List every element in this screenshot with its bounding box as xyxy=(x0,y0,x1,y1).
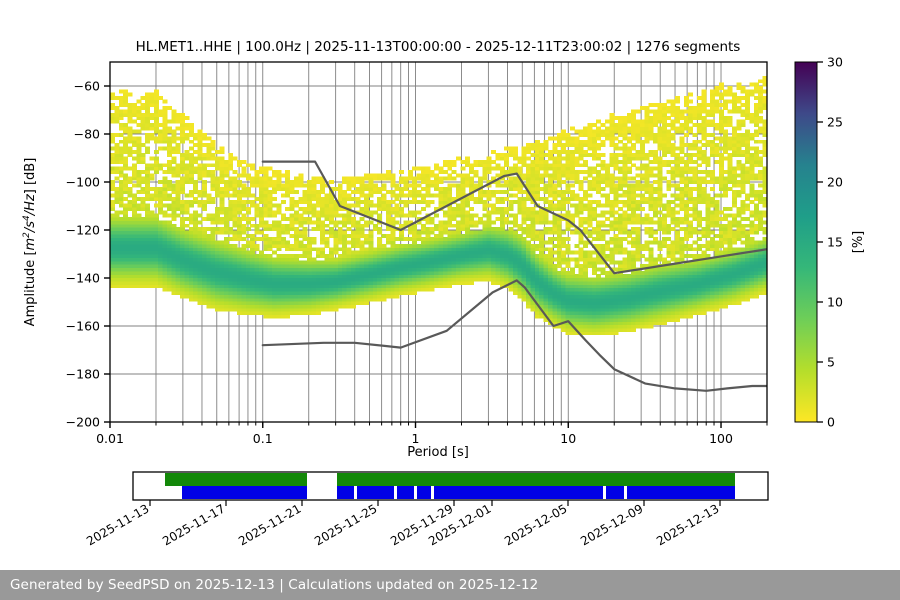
timeline-blue-span xyxy=(182,486,307,499)
x-tick-label: 1 xyxy=(412,431,420,446)
y-tick-label: −120 xyxy=(66,223,100,238)
timeline-blue-span xyxy=(357,486,394,499)
ppsd-plot-svg: HL.MET1..HHE | 100.0Hz | 2025-11-13T00:0… xyxy=(0,0,900,600)
y-tick-label: −80 xyxy=(74,127,100,142)
x-axis-label: Period [s] xyxy=(407,445,469,460)
x-tick-label: 10 xyxy=(560,431,576,446)
y-tick-label: −140 xyxy=(66,271,100,286)
ppsd-figure: HL.MET1..HHE | 100.0Hz | 2025-11-13T00:0… xyxy=(0,0,900,600)
colorbar-tick-label: 0 xyxy=(827,415,835,430)
plot-area: 0.010.1110100 −200−180−160−140−120−100−8… xyxy=(22,62,768,460)
timeline-blue-span xyxy=(606,486,624,499)
timeline-blue-span xyxy=(337,486,354,499)
x-tick-label: 0.01 xyxy=(96,431,124,446)
page-title: HL.MET1..HHE | 100.0Hz | 2025-11-13T00:0… xyxy=(136,39,741,55)
timeline-blue-span xyxy=(417,486,431,499)
colorbar-tick-label: 25 xyxy=(827,115,843,130)
colorbar-label: [%] xyxy=(851,231,866,254)
timeline-blue-span xyxy=(397,486,414,499)
timeline-blue-span xyxy=(434,486,603,499)
timeline-blue-span xyxy=(627,486,735,499)
y-tick-label: −180 xyxy=(66,367,100,382)
x-tick-label: 100 xyxy=(709,431,733,446)
colorbar-tick-label: 10 xyxy=(827,295,843,310)
y-tick-label: −160 xyxy=(66,319,100,334)
y-axis-label: Amplitude [m2/s4/Hz] [dB] xyxy=(22,158,38,327)
y-tick-label: −100 xyxy=(66,175,100,190)
y-tick-label: −200 xyxy=(66,415,100,430)
footer-bar: Generated by SeedPSD on 2025-12-13 | Cal… xyxy=(0,570,900,600)
colorbar-tick-label: 15 xyxy=(827,235,843,250)
colorbar-tick-label: 30 xyxy=(827,55,843,70)
timeline-green-spans xyxy=(165,473,735,486)
timeline-green-span xyxy=(337,473,735,486)
colorbar-gradient xyxy=(795,62,817,422)
timeline-green-span xyxy=(165,473,307,486)
timeline-blue-spans xyxy=(182,486,735,499)
y-tick-label: −60 xyxy=(74,79,100,94)
colorbar-tick-label: 5 xyxy=(827,355,835,370)
footer-text: Generated by SeedPSD on 2025-12-13 | Cal… xyxy=(0,577,538,593)
colorbar-tick-label: 20 xyxy=(827,175,843,190)
x-tick-label: 0.1 xyxy=(253,431,273,446)
